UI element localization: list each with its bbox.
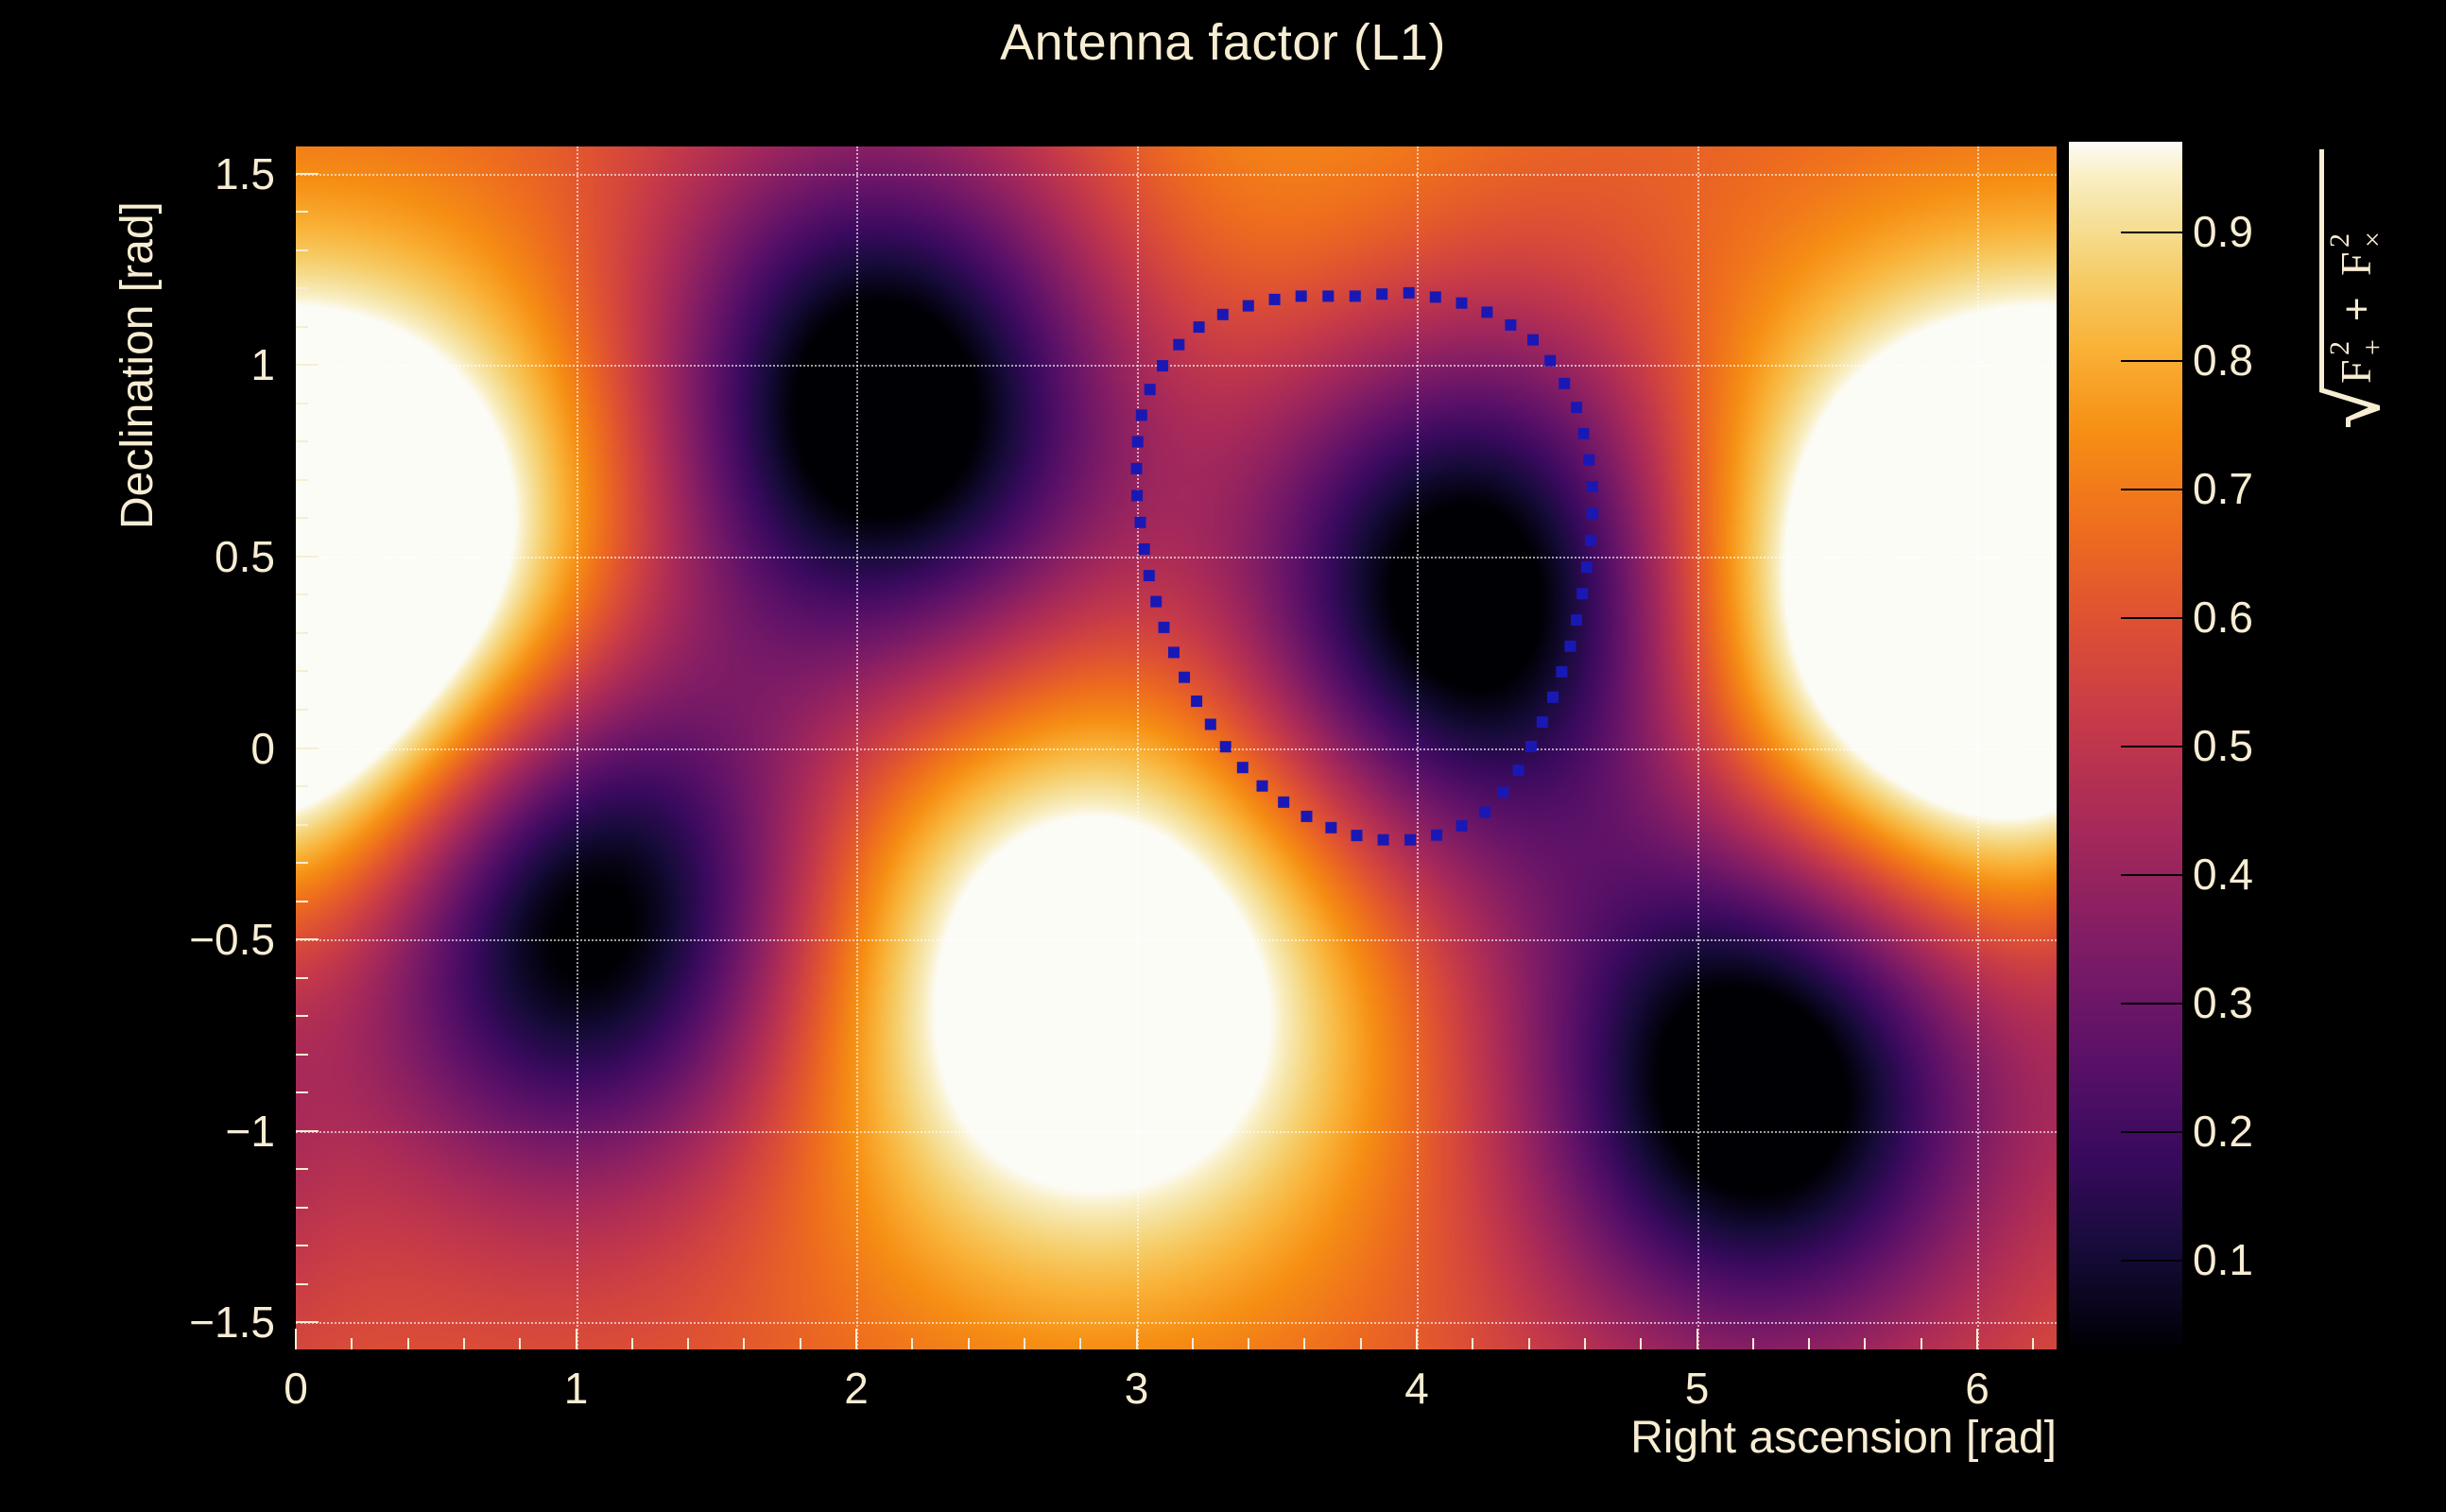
- contour-dot: [1173, 339, 1184, 351]
- y-axis-tick: [296, 1130, 319, 1132]
- x-axis-minor-tick: [687, 1338, 689, 1349]
- svg-text:+: +: [2334, 297, 2380, 321]
- y-axis-tick: [296, 747, 319, 749]
- contour-dot: [1243, 301, 1254, 312]
- colorbar-tick: [2121, 1131, 2182, 1133]
- y-axis-title: Declination [rad]: [112, 201, 164, 529]
- x-axis-tick-label: 0: [284, 1363, 308, 1414]
- contour-dot: [1571, 402, 1582, 413]
- contour-dot: [1527, 335, 1539, 346]
- svg-text:+: +: [2357, 339, 2388, 355]
- y-axis-minor-tick: [296, 1168, 308, 1170]
- x-axis-tick: [295, 1329, 297, 1349]
- x-axis-minor-tick: [351, 1338, 353, 1349]
- colorbar-tick: [2121, 746, 2182, 747]
- page-title: Antenna factor (L1): [0, 13, 2446, 72]
- colorbar-tick-label: 0.8: [2193, 335, 2253, 386]
- contour-dot: [1525, 741, 1537, 752]
- svg-text:×: ×: [2357, 232, 2388, 248]
- x-axis-minor-tick: [407, 1338, 409, 1349]
- colorbar-tick-label: 0.7: [2193, 463, 2253, 514]
- x-axis-minor-tick: [463, 1338, 465, 1349]
- x-axis-minor-tick: [1752, 1338, 1754, 1349]
- y-axis-minor-tick: [296, 1015, 308, 1017]
- x-axis-minor-tick: [1808, 1338, 1810, 1349]
- contour-dot: [1168, 646, 1180, 658]
- contour-dot: [1257, 781, 1268, 792]
- y-axis-minor-tick: [296, 632, 308, 634]
- x-axis-tick-label: 3: [1125, 1363, 1149, 1414]
- contour-dot: [1430, 291, 1441, 302]
- contour-dot: [1191, 696, 1202, 707]
- contour-dot: [1269, 294, 1281, 305]
- contour-dot: [1135, 517, 1146, 528]
- plot-canvas: Antenna factor (L1) 0123456 1.510.50−0.5…: [0, 0, 2446, 1512]
- contour-dot: [1205, 719, 1216, 730]
- x-axis-minor-tick: [1640, 1338, 1642, 1349]
- colorbar-tick: [2121, 617, 2182, 619]
- y-axis-minor-tick: [296, 1091, 308, 1093]
- y-axis-tick: [296, 556, 319, 558]
- y-axis-minor-tick: [296, 862, 308, 864]
- contour-dot: [1296, 290, 1307, 301]
- contour-dot: [1587, 481, 1598, 492]
- colorbar-tick: [2121, 232, 2182, 233]
- contour-dot: [1537, 716, 1548, 728]
- contour-dot: [1159, 622, 1170, 633]
- y-axis-minor-tick: [296, 901, 308, 902]
- contour-dot: [1145, 384, 1156, 395]
- contour-dot: [1278, 797, 1289, 808]
- x-axis-minor-tick: [800, 1338, 801, 1349]
- contour-dot: [1179, 672, 1190, 683]
- x-axis-tick-label: 5: [1685, 1363, 1710, 1414]
- colorbar-tick: [2121, 1003, 2182, 1005]
- contour-dot: [1431, 830, 1442, 841]
- y-axis-minor-tick: [296, 249, 308, 251]
- x-axis-tick-label: 4: [1404, 1363, 1429, 1414]
- x-axis-tick: [1697, 1329, 1698, 1349]
- contour-dot: [1217, 309, 1229, 320]
- heatmap-frame: [296, 146, 2057, 1349]
- contour-dot: [1565, 641, 1576, 652]
- colorbar-tick: [2121, 489, 2182, 490]
- y-axis-tick-label: 1.5: [215, 148, 275, 199]
- x-axis-minor-tick: [1472, 1338, 1473, 1349]
- x-axis-minor-tick: [1584, 1338, 1586, 1349]
- x-axis-tick: [1976, 1329, 1978, 1349]
- contour-dot: [1556, 666, 1567, 678]
- x-axis-minor-tick: [1864, 1338, 1866, 1349]
- contour-dot: [1547, 692, 1559, 703]
- y-axis-minor-tick: [296, 326, 308, 328]
- colorbar-tick-label: 0.6: [2193, 592, 2253, 643]
- colorbar-tick-label: 0.4: [2193, 849, 2253, 900]
- y-axis-minor-tick: [296, 1207, 308, 1209]
- contour-dot: [1144, 570, 1155, 581]
- colorbar-tick-label: 0.2: [2193, 1106, 2253, 1157]
- contour-dot: [1139, 543, 1150, 555]
- x-axis-title: Right ascension [rad]: [1630, 1412, 2057, 1464]
- contour-dot: [1404, 834, 1416, 846]
- contour-dot: [1497, 786, 1508, 798]
- contour-dot: [1237, 762, 1249, 773]
- x-axis-minor-tick: [1528, 1338, 1530, 1349]
- y-axis-minor-tick: [296, 1054, 308, 1056]
- x-axis-minor-tick: [1921, 1338, 1922, 1349]
- svg-text:F: F: [2332, 359, 2380, 384]
- x-axis-minor-tick: [2032, 1338, 2034, 1349]
- x-axis-minor-tick: [519, 1338, 521, 1349]
- contour-dot: [1131, 463, 1143, 474]
- y-axis-minor-tick: [296, 287, 308, 289]
- contour-dot: [1456, 298, 1468, 309]
- svg-text:2: 2: [2324, 341, 2355, 355]
- x-axis-tick-label: 6: [1965, 1363, 1990, 1414]
- contour-dot: [1559, 378, 1570, 389]
- contour-dot: [1576, 588, 1588, 599]
- y-axis-minor-tick: [296, 709, 308, 711]
- colorbar-axis-title: F + 2 + F × 2: [2297, 113, 2446, 435]
- x-axis-minor-tick: [1024, 1338, 1025, 1349]
- y-axis-minor-tick: [296, 824, 308, 826]
- x-axis-minor-tick: [968, 1338, 970, 1349]
- colorbar-tick: [2121, 1260, 2182, 1262]
- contour-dot: [1150, 596, 1162, 608]
- colorbar-tick-label: 0.9: [2193, 206, 2253, 257]
- y-axis-minor-tick: [296, 1245, 308, 1246]
- y-axis-tick-label: 0: [250, 723, 275, 774]
- y-axis-tick: [296, 173, 319, 175]
- contour-dot: [1585, 535, 1596, 546]
- contour-dot: [1136, 409, 1147, 421]
- x-axis-tick-label: 1: [564, 1363, 589, 1414]
- contour-dot: [1131, 490, 1143, 501]
- y-axis-tick-label: 1: [250, 339, 275, 390]
- contour-dot: [1581, 561, 1593, 573]
- y-axis-tick-label: −0.5: [189, 914, 275, 965]
- colorbar-tick-label: 0.1: [2193, 1234, 2253, 1285]
- x-axis-minor-tick: [911, 1338, 913, 1349]
- x-axis-minor-tick: [1079, 1338, 1081, 1349]
- contour-dot: [1322, 290, 1334, 301]
- contour-dot: [1194, 321, 1205, 333]
- y-axis-tick-label: 0.5: [215, 531, 275, 582]
- y-axis-minor-tick: [296, 440, 308, 442]
- y-axis-minor-tick: [296, 211, 308, 213]
- x-axis-tick: [1136, 1329, 1138, 1349]
- contour-dot: [1157, 360, 1168, 371]
- x-axis-minor-tick: [743, 1338, 745, 1349]
- y-axis-tick: [296, 364, 319, 366]
- y-axis-minor-tick: [296, 517, 308, 519]
- contour-dot: [1583, 455, 1594, 466]
- contour-dot: [1571, 614, 1582, 626]
- colorbar-tick-label: 0.3: [2193, 977, 2253, 1028]
- svg-text:F: F: [2332, 251, 2380, 276]
- x-axis-minor-tick: [631, 1338, 633, 1349]
- x-axis-minor-tick: [1248, 1338, 1249, 1349]
- contour-dot: [1544, 355, 1556, 367]
- contour-dot: [1378, 834, 1389, 846]
- contour-overlay: [296, 146, 2057, 1349]
- contour-dot: [1325, 822, 1336, 833]
- contour-dot: [1350, 290, 1361, 301]
- y-axis-tick-label: −1: [226, 1106, 275, 1157]
- x-axis-minor-tick: [1360, 1338, 1362, 1349]
- x-axis-tick: [855, 1329, 857, 1349]
- contour-dot: [1301, 811, 1313, 822]
- y-axis-minor-tick: [296, 593, 308, 595]
- y-axis-tick-label: −1.5: [189, 1297, 275, 1348]
- contour-dot: [1404, 287, 1415, 299]
- x-axis-tick-label: 2: [844, 1363, 869, 1414]
- y-axis-minor-tick: [296, 785, 308, 787]
- contour-dot: [1352, 830, 1363, 841]
- y-axis-minor-tick: [296, 977, 308, 979]
- contour-dot: [1481, 306, 1492, 318]
- colorbar-tick: [2121, 874, 2182, 876]
- contour-dot: [1505, 319, 1516, 331]
- y-axis-minor-tick: [296, 403, 308, 404]
- contour-dot: [1513, 765, 1524, 776]
- colorbar-tick-label: 0.5: [2193, 720, 2253, 771]
- svg-text:2: 2: [2324, 233, 2355, 248]
- contour-dot: [1587, 507, 1598, 519]
- contour-dot: [1479, 806, 1490, 817]
- x-axis-minor-tick: [1192, 1338, 1194, 1349]
- x-axis-tick: [1416, 1329, 1418, 1349]
- y-axis-minor-tick: [296, 479, 308, 481]
- contour-dot: [1456, 820, 1468, 832]
- y-axis-tick: [296, 938, 319, 940]
- y-axis-tick: [296, 1321, 319, 1323]
- contour-dot: [1376, 288, 1387, 300]
- colorbar-tick: [2121, 360, 2182, 362]
- contour-dot: [1578, 428, 1590, 439]
- x-axis-minor-tick: [1303, 1338, 1305, 1349]
- y-axis-minor-tick: [296, 1283, 308, 1285]
- contour-dot: [1220, 741, 1232, 752]
- y-axis-minor-tick: [296, 670, 308, 672]
- contour-dot: [1132, 437, 1144, 448]
- x-axis-tick: [576, 1329, 577, 1349]
